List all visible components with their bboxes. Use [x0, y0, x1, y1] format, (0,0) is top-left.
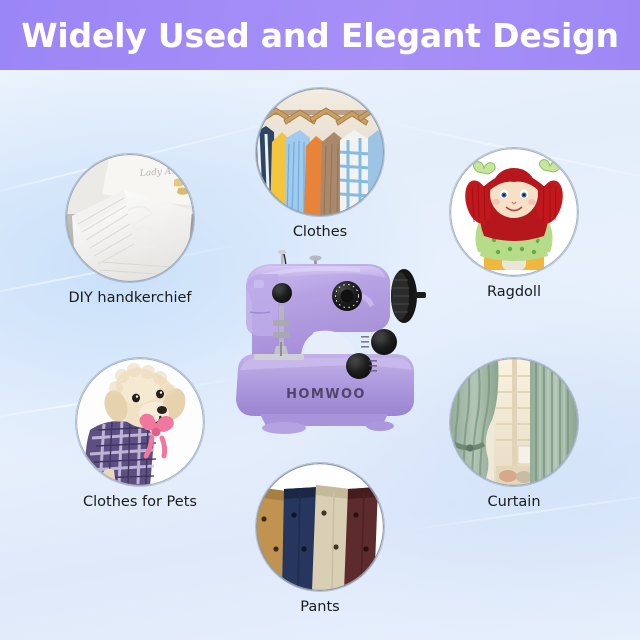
sewing-machine-product-image: HOMWOO	[228, 246, 428, 454]
feature-caption: Pants	[254, 600, 386, 616]
feature-caption: DIY handkerchief	[64, 291, 196, 307]
curtain-photo	[450, 358, 578, 486]
feature-caption: Clothes for Pets	[74, 495, 206, 511]
pants-photo	[256, 463, 384, 591]
feature-handkerchief: Lady A. DIY handkerchief	[64, 154, 196, 307]
feature-clothes: Clothes	[254, 88, 386, 241]
feature-pants: Pants	[254, 463, 386, 616]
ragdoll-photo	[450, 148, 578, 276]
feature-curtain: Curtain	[448, 358, 580, 511]
handkerchief-photo: Lady A.	[66, 154, 194, 282]
pet-clothes-photo	[76, 358, 204, 486]
feature-caption: Clothes	[254, 225, 386, 241]
page-title: Widely Used and Elegant Design	[21, 19, 619, 52]
clothes-photo	[256, 88, 384, 216]
feature-pets: Clothes for Pets	[74, 358, 206, 511]
machine-brand-text: HOMWOO	[286, 387, 366, 402]
infographic-page: Widely Used and Elegant Design Lady A.	[0, 0, 640, 640]
feature-caption: Ragdoll	[448, 285, 580, 301]
feature-caption: Curtain	[448, 495, 580, 511]
header-banner: Widely Used and Elegant Design	[0, 0, 640, 70]
feature-ragdoll: Ragdoll	[448, 148, 580, 301]
